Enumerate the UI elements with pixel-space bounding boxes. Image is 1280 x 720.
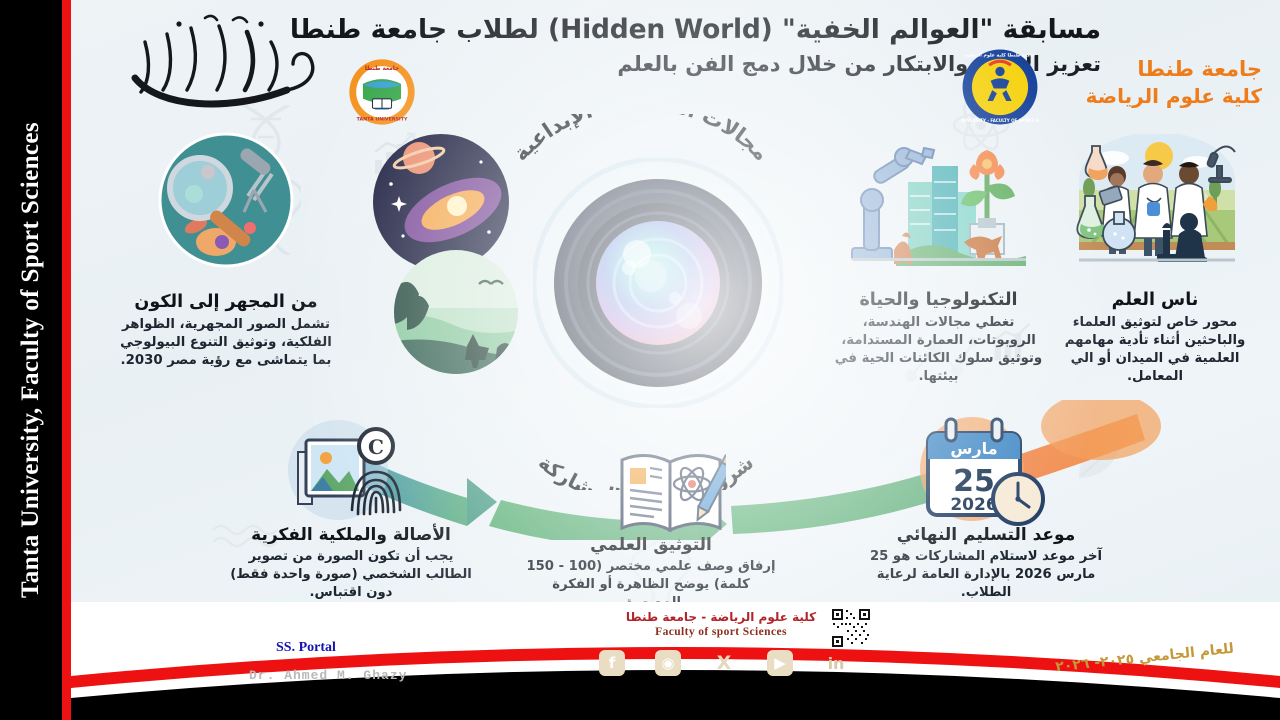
author-credit: Dr. Ahmed M. Ghazy: [249, 668, 407, 683]
calendar-day: 25: [953, 464, 995, 499]
step-title: الأصالة والملكية الفكرية: [226, 525, 476, 545]
feature-desc: تغطي مجالات الهندسة، الروبوتات، العمارة …: [831, 314, 1046, 386]
faculty-name-line1: جامعة طنطا: [1086, 56, 1262, 83]
faculty-sport-sciences-logo-icon: جامعة طنطا كلية علوم الرياضة TANTA UNIVE…: [961, 48, 1039, 126]
facebook-icon[interactable]: f: [599, 650, 625, 676]
faculty-name-block: جامعة طنطا كلية علوم الرياضة: [1086, 56, 1262, 109]
feature-title: من المجهر إلى الكون: [111, 292, 341, 312]
step-scientific-documentation: التوثيق العلمي إرفاق وصف علمي مختصر (100…: [526, 535, 776, 612]
step-title: موعد التسليم النهائي: [861, 525, 1111, 545]
step-desc: يجب أن تكون الصورة من تصوير الطالب الشخص…: [226, 548, 476, 602]
feature-people-of-science: ناس العلم محور خاص لتوثيق العلماء والباح…: [1046, 130, 1264, 386]
footer: كلية علوم الرياضة - جامعة طنطا Faculty o…: [71, 602, 1280, 720]
page-title: مسابقة "العوالم الخفية" (Hidden World) ل…: [321, 14, 1101, 45]
step-final-deadline: موعد التسليم النهائي آخر موعد لاستلام ال…: [861, 525, 1111, 602]
feature-microscope-to-universe: من المجهر إلى الكون تشمل الصور المجهرية،…: [111, 130, 341, 370]
youtube-icon[interactable]: ▶: [767, 650, 793, 676]
svg-text:C: C: [368, 435, 384, 459]
open-book-atom-pencil-icon: [616, 440, 726, 540]
calendar-month: مارس: [950, 439, 997, 458]
feature-desc: محور خاص لتوثيق العلماء والباحثين أثناء …: [1046, 314, 1264, 386]
svg-text:TANTA UNIVERSITY - FACULTY OF: TANTA UNIVERSITY - FACULTY OF SPORT SCIE…: [961, 118, 1039, 123]
camera-lens-icon: [533, 158, 783, 408]
spine-red-rule: [62, 0, 71, 720]
robotics-nature-city-icon: [846, 130, 1031, 280]
linkedin-icon[interactable]: in: [823, 650, 849, 676]
spine-label: Tanta University, Faculty of Sport Scien…: [17, 122, 45, 598]
calendar-year: 2026: [950, 495, 997, 515]
calendar-deadline-icon: مارس 25 2026: [906, 415, 1046, 530]
step-desc: آخر موعد لاستلام المشاركات هو 25 مارس 20…: [861, 548, 1111, 602]
microscope-magnifier-icon: [150, 130, 302, 282]
ss-portal-label[interactable]: SS. Portal: [276, 640, 336, 656]
feature-technology-and-life: التكنولوجيا والحياة تغطي مجالات الهندسة،…: [831, 130, 1046, 386]
svg-text:جامعة طنطا: جامعة طنطا: [365, 66, 399, 72]
copyright-fingerprint-icon: C: [276, 418, 416, 528]
scientists-field-lab-icon: [1063, 130, 1248, 280]
x-twitter-icon[interactable]: X: [711, 650, 737, 676]
feature-title: ناس العلم: [1046, 290, 1264, 310]
instagram-icon[interactable]: ◉: [655, 650, 681, 676]
step-originality: الأصالة والملكية الفكرية يجب أن تكون الص…: [226, 525, 476, 602]
qr-code-icon[interactable]: [831, 608, 871, 648]
faculty-name-line2: كلية علوم الرياضة: [1086, 83, 1262, 109]
footer-faculty-ar: كلية علوم الرياضة - جامعة طنطا: [591, 610, 851, 624]
social-links: f ◉ X ▶ in: [599, 650, 849, 676]
footer-faculty-block: كلية علوم الرياضة - جامعة طنطا Faculty o…: [591, 610, 851, 638]
feature-title: التكنولوجيا والحياة: [831, 290, 1046, 310]
svg-text:جامعة طنطا كلية علوم الرياضة: جامعة طنطا كلية علوم الرياضة: [965, 53, 1035, 59]
step-title: التوثيق العلمي: [526, 535, 776, 555]
svg-text:TANTA UNIVERSITY: TANTA UNIVERSITY: [357, 117, 408, 123]
footer-faculty-en: Faculty of sport Sciences: [591, 626, 851, 638]
left-spine: Tanta University, Faculty of Sport Scien…: [0, 0, 62, 720]
feature-desc: تشمل الصور المجهرية، الظواهر الفلكية، وت…: [111, 316, 341, 370]
poster-stage: Tanta University, Faculty of Sport Scien…: [0, 0, 1280, 720]
tanta-university-logo-icon: جامعة طنطا TANTA UNIVERSITY: [348, 58, 416, 126]
